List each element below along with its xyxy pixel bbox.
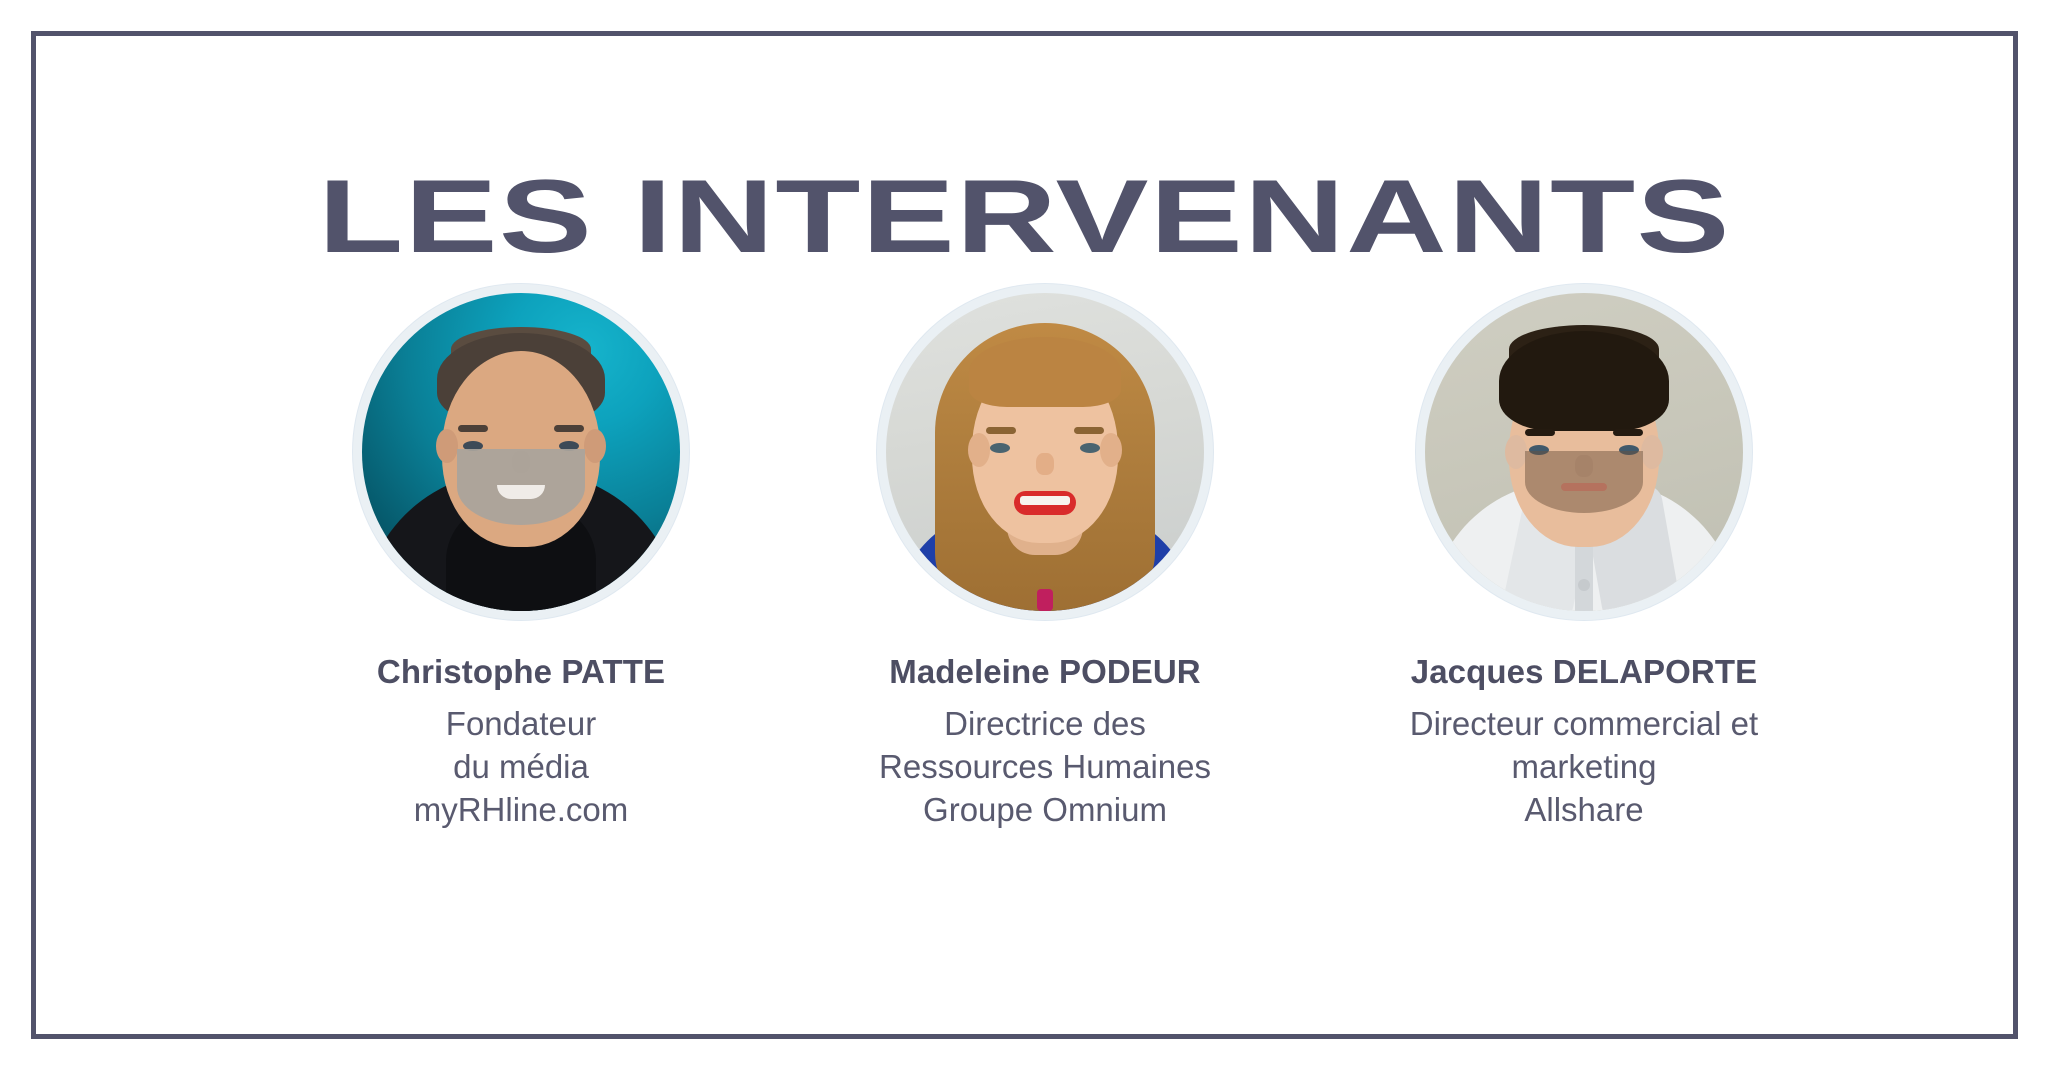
speaker-caption-2: Madeleine PODEUR Directrice des Ressourc… <box>879 650 1211 831</box>
speaker-role: Directeur commercial et marketing Allsha… <box>1410 702 1758 831</box>
eyebrow-right-icon <box>1613 429 1643 436</box>
speaker-name: Christophe PATTE <box>377 650 665 694</box>
speaker-name: Jacques DELAPORTE <box>1410 650 1758 694</box>
eye-left-icon <box>990 443 1010 453</box>
avatar-photo-christophe-patte <box>362 293 680 611</box>
hair-icon <box>969 337 1121 407</box>
slide-root: LES INTERVENANTS <box>0 0 2048 1070</box>
avatar-ring-1 <box>353 284 689 620</box>
ear-left-icon <box>436 429 458 463</box>
speaker-card-1: Christophe PATTE Fondateur du média myRH… <box>281 284 761 831</box>
mouth-icon <box>1561 483 1607 491</box>
page-title: LES INTERVENANTS <box>0 162 2048 272</box>
eyebrow-left-icon <box>1525 429 1555 436</box>
hair-icon <box>1499 331 1669 431</box>
avatar-ring-3 <box>1416 284 1752 620</box>
eyebrow-left-icon <box>986 427 1016 434</box>
speaker-card-2: Madeleine PODEUR Directrice des Ressourc… <box>805 284 1285 831</box>
nose-icon <box>1036 453 1054 475</box>
speaker-role-line: Directeur commercial et <box>1410 702 1758 745</box>
ear-right-icon <box>1641 435 1663 469</box>
ear-left-icon <box>1505 435 1527 469</box>
shirt-button-icon <box>1578 579 1590 591</box>
ear-right-icon <box>584 429 606 463</box>
avatar-photo-madeleine-podeur <box>886 293 1204 611</box>
speaker-role-line: Ressources Humaines <box>879 745 1211 788</box>
avatar-ring-2 <box>877 284 1213 620</box>
speaker-name: Madeleine PODEUR <box>879 650 1211 694</box>
speaker-role-line: marketing <box>1410 745 1758 788</box>
speaker-caption-3: Jacques DELAPORTE Directeur commercial e… <box>1410 650 1758 831</box>
speaker-role-line: Fondateur <box>377 702 665 745</box>
speaker-role-line: Allshare <box>1410 788 1758 831</box>
speaker-role-line: myRHline.com <box>377 788 665 831</box>
slide-frame-border: LES INTERVENANTS <box>31 31 2018 1039</box>
eyebrow-right-icon <box>554 425 584 432</box>
eye-right-icon <box>1080 443 1100 453</box>
ear-left-icon <box>968 433 990 467</box>
ear-right-icon <box>1100 433 1122 467</box>
speaker-caption-1: Christophe PATTE Fondateur du média myRH… <box>377 650 665 831</box>
speaker-card-3: Jacques DELAPORTE Directeur commercial e… <box>1314 284 1854 831</box>
speaker-role: Directrice des Ressources Humaines Group… <box>879 702 1211 831</box>
speaker-role: Fondateur du média myRHline.com <box>377 702 665 831</box>
lapel-pin-icon <box>1037 589 1053 611</box>
speakers-row: Christophe PATTE Fondateur du média myRH… <box>86 284 1973 831</box>
eyebrow-left-icon <box>458 425 488 432</box>
speaker-role-line: Directrice des <box>879 702 1211 745</box>
teeth-icon <box>1020 496 1070 505</box>
avatar-photo-jacques-delaporte <box>1425 293 1743 611</box>
speaker-role-line: Groupe Omnium <box>879 788 1211 831</box>
eyebrow-right-icon <box>1074 427 1104 434</box>
mouth-icon <box>497 485 545 499</box>
beard-icon <box>1525 451 1643 513</box>
speaker-role-line: du média <box>377 745 665 788</box>
